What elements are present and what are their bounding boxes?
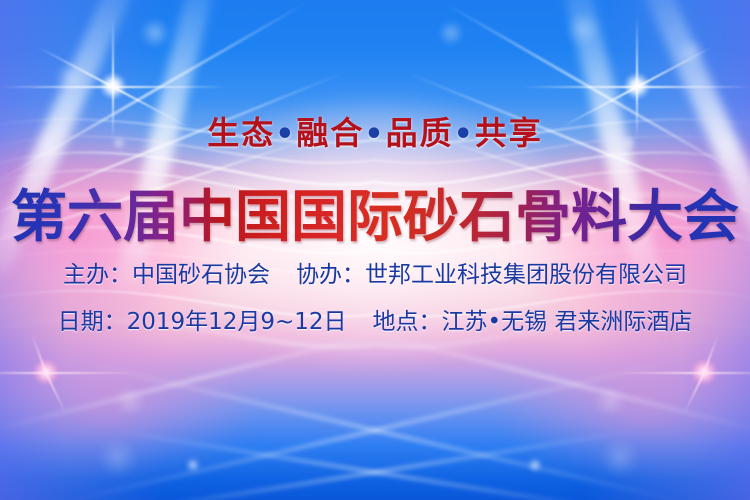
subtitle-part-1: 生态 [207,114,275,152]
subtitle-separator-icon: • [364,117,385,152]
subtitle-part-4: 共享 [475,114,543,152]
banner-subtitle: 生态•融合•品质•共享 [0,108,750,154]
date-venue-line: 日期：2019年12月9~12日地点：江苏•无锡 君来洲际酒店 [0,302,750,336]
subtitle-part-3: 品质 [386,114,454,152]
subtitle-part-2: 融合 [296,114,364,152]
venue-value: 江苏•无锡 君来洲际酒店 [442,309,693,335]
venue-label: 地点： [373,309,442,335]
co-organizer-value: 世邦工业科技集团股份有限公司 [365,262,687,288]
page-title: 第六届中国国际砂石骨料大会 [0,172,750,253]
subtitle-separator-icon: • [275,117,296,152]
co-organizer-label: 协办： [296,262,365,288]
organizer-line: 主办：中国砂石协会协办：世邦工业科技集团股份有限公司 [0,255,750,289]
banner-content: 生态•融合•品质•共享 第六届中国国际砂石骨料大会 主办：中国砂石协会协办：世邦… [0,0,750,500]
organizer-value: 中国砂石协会 [132,262,270,288]
subtitle-separator-icon: • [454,117,475,152]
date-label: 日期： [58,309,127,335]
organizer-label: 主办： [63,262,132,288]
conference-banner: 生态•融合•品质•共享 第六届中国国际砂石骨料大会 主办：中国砂石协会协办：世邦… [0,0,750,500]
date-value: 2019年12月9~12日 [127,309,347,335]
